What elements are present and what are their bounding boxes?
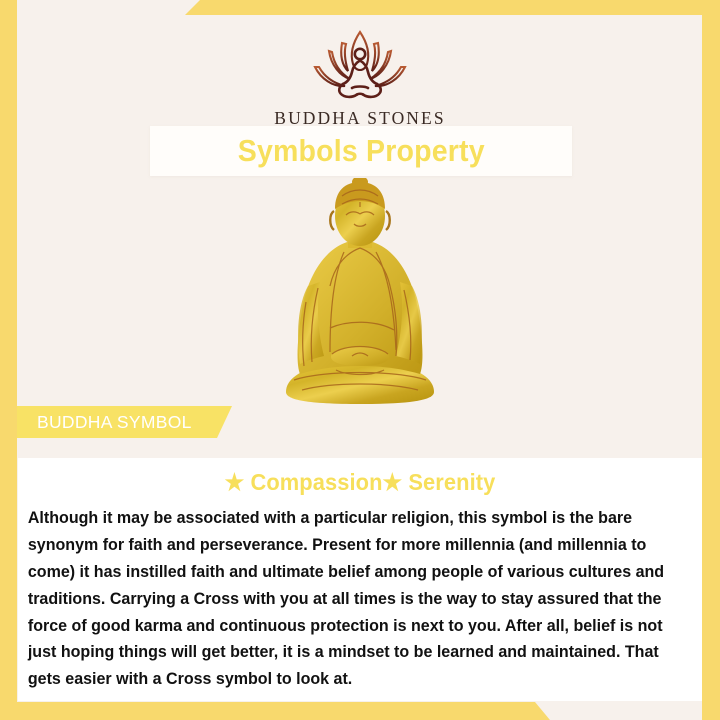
buddha-symbol-tag: BUDDHA SYMBOL (17, 406, 232, 438)
poster-root: BUDDHA STONES Symbols Property (0, 0, 720, 720)
seated-buddha-icon (272, 178, 448, 410)
title-banner: Symbols Property (150, 126, 572, 176)
top-accent-band (0, 0, 720, 15)
brand-logo: BUDDHA STONES (0, 24, 720, 129)
content-body: Although it may be associated with a par… (18, 496, 692, 693)
page-title: Symbols Property (237, 133, 484, 169)
bottom-accent-band (0, 702, 720, 720)
tag-label: BUDDHA SYMBOL (17, 412, 192, 433)
content-subtitle: ★ Compassion★ Serenity (35, 458, 685, 496)
buddha-statue-image (272, 178, 448, 410)
content-panel: ★ Compassion★ Serenity Although it may b… (18, 458, 702, 701)
lotus-meditation-icon (295, 24, 425, 102)
